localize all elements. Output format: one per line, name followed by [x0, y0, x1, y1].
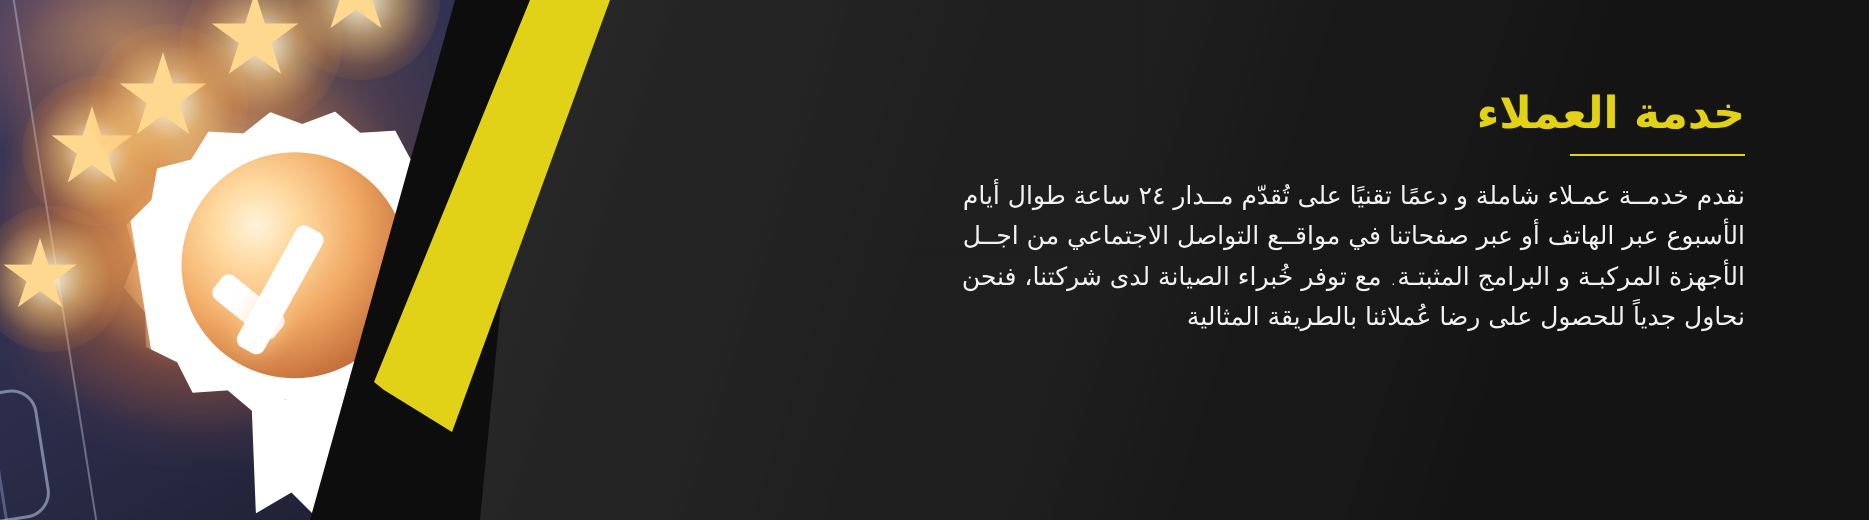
body-paragraph: نقدم خدمــة عمـلاء شاملة و دعمًا تقنيًا … [745, 176, 1745, 338]
content-block: خدمة العملاء نقدم خدمــة عمـلاء شاملة و … [745, 88, 1745, 338]
body-line-2: الأسبوع عبر الهاتف أو عبر صفحاتنا في موا… [745, 216, 1745, 257]
checkmark-icon [215, 195, 383, 341]
title-underline-rule [1570, 154, 1745, 156]
page-title: خدمة العملاء [745, 88, 1745, 140]
customer-service-banner: خدمة العملاء نقدم خدمــة عمـلاء شاملة و … [0, 0, 1869, 520]
body-line-3: الأجهزة المركبـة و البرامج المثبتـة. مع … [745, 257, 1745, 298]
body-line-4: نحاول جدياً للحصول على رضا عُملائنا بالط… [745, 297, 1745, 338]
body-line-1: نقدم خدمــة عمـلاء شاملة و دعمًا تقنيًا … [745, 176, 1745, 217]
